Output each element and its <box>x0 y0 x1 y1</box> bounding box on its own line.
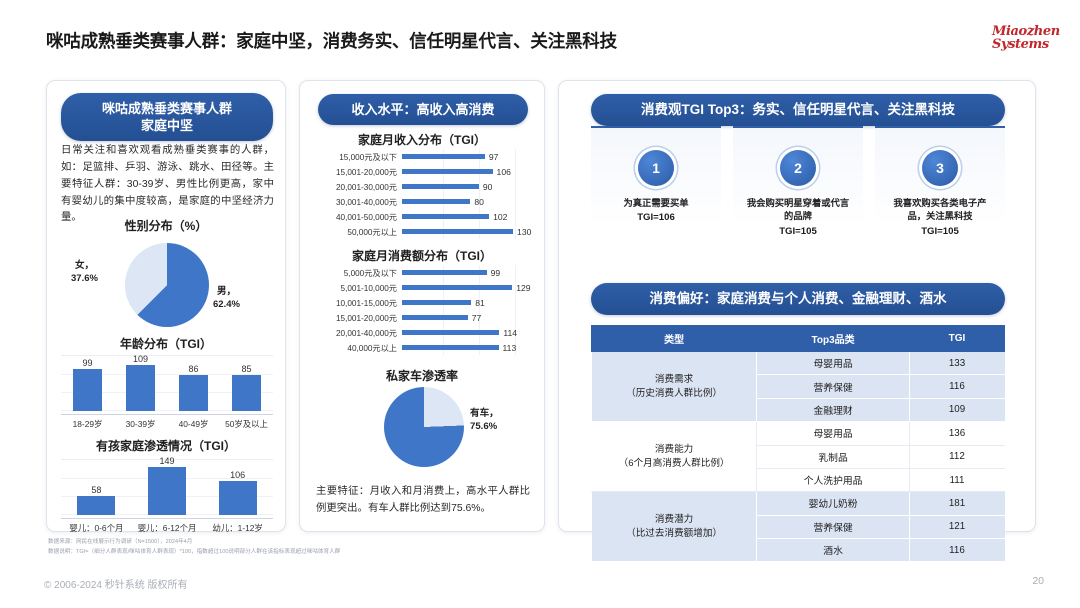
table-cell-tgi: 121 <box>909 515 1004 538</box>
table-row: 消费能力（6个月高消费人群比例）母婴用品136 <box>592 422 1005 445</box>
bar-value-label: 114 <box>503 328 517 338</box>
axis-tick-label: 50,000元以上 <box>314 226 402 238</box>
gender-female-value: 37.6% <box>71 272 98 285</box>
category-line2: （比过去消费额增加） <box>594 527 754 540</box>
bar-value-label: 102 <box>493 212 507 222</box>
bar-column: 149 <box>132 460 203 515</box>
tgi-top3-item-3[interactable]: 3我喜欢购买各类电子产品，关注黑科技TGI=105 <box>875 126 1005 264</box>
child-chart-title: 有孩家庭渗透情况（TGI） <box>47 437 285 454</box>
bar-column: 106 <box>202 460 273 515</box>
tgi-item-value: TGI=106 <box>595 212 717 223</box>
axis-tick-label: 幼儿：1-12岁 <box>202 522 273 534</box>
brand-logo: Miaozhen Systems <box>992 25 1062 51</box>
child-plot-area: 58149106 <box>61 459 273 515</box>
bar-value-label: 130 <box>517 227 531 237</box>
consumption-card: 消费观TGI Top3：务实、信任明星代言、关注黑科技 1为真正需要买单TGI=… <box>558 80 1036 532</box>
preference-table-head: 类型Top3品类TGI <box>592 326 1005 352</box>
bar-track: 90 <box>402 179 532 194</box>
footnote-definition: 数据说明：TGI=（细分人群表现/咪咕体育人群表现）*100，指数超过100说明… <box>48 548 340 558</box>
table-cell-item: 乳制品 <box>757 445 910 468</box>
category-line2: （6个月高消费人群比例） <box>594 457 754 470</box>
axis-tick-label: 40,001-50,000元 <box>314 211 402 223</box>
income-chart-title: 家庭月收入分布（TGI） <box>300 131 544 148</box>
brand-logo-line2: Systems <box>992 38 1062 51</box>
bar-value-label: 106 <box>202 470 273 480</box>
bar-value-label: 85 <box>220 364 273 374</box>
table-cell-item: 营养保健 <box>757 515 910 538</box>
axis-tick-label: 5,000元及以下 <box>314 267 402 279</box>
bar-value-label: 129 <box>516 283 530 293</box>
page-number: 20 <box>1032 575 1044 587</box>
bar-row: 5,001-10,000元129 <box>314 280 532 295</box>
tgi-top3-item-1[interactable]: 1为真正需要买单TGI=106 <box>591 126 721 264</box>
profile-pill-line1: 咪咕成熟垂类赛事人群 <box>65 100 269 117</box>
income-card-header: 收入水平：高收入高消费 <box>318 94 528 125</box>
gender-male-value: 62.4% <box>213 298 240 311</box>
age-bar-chart: 991098685 18-29岁30-39岁40-49岁50岁及以上 <box>61 355 273 431</box>
bar-column: 99 <box>61 356 114 411</box>
bar-value-label: 97 <box>489 152 499 162</box>
table-header-row: 类型Top3品类TGI <box>592 326 1005 352</box>
table-cell-tgi: 112 <box>909 445 1004 468</box>
bar <box>402 330 499 335</box>
bar-value-label: 81 <box>475 298 485 308</box>
income-bar-chart: 15,000元及以下9715,001-20,000元10620,001-30,0… <box>314 149 532 239</box>
axis-tick-label: 15,001-20,000元 <box>314 166 402 178</box>
axis-tick-label: 40-49岁 <box>167 418 220 430</box>
axis-tick-label: 婴儿：6-12个月 <box>132 522 203 534</box>
tgi-item-description: 我会购买明星穿着或代言的品牌 <box>737 197 859 224</box>
bar-row: 15,000元及以下97 <box>314 149 532 164</box>
bar-track: 77 <box>402 310 532 325</box>
gender-female-label: 女， 37.6% <box>71 259 98 286</box>
bar-row: 40,001-50,000元102 <box>314 209 532 224</box>
table-cell-tgi: 136 <box>909 422 1004 445</box>
bar <box>402 169 493 174</box>
preference-header: 消费偏好：家庭消费与个人消费、金融理财、酒水 <box>591 283 1005 315</box>
tgi-top3-header: 消费观TGI Top3：务实、信任明星代言、关注黑科技 <box>591 94 1005 126</box>
bar <box>402 315 468 320</box>
axis-tick-label: 30-39岁 <box>114 418 167 430</box>
bar <box>402 270 487 275</box>
table-cell-item: 金融理财 <box>757 398 910 421</box>
table-cell-item: 母婴用品 <box>757 352 910 375</box>
bar <box>402 229 513 234</box>
table-cell-tgi: 111 <box>909 468 1004 491</box>
table-cell-category: 消费需求（历史消费人群比例） <box>592 352 757 422</box>
bar-value-label: 99 <box>491 268 501 278</box>
bar-column: 58 <box>61 460 132 515</box>
bar-row: 40,000元以上113 <box>314 340 532 355</box>
table-row: 消费潜力（比过去消费额增加）婴幼儿奶粉181 <box>592 492 1005 515</box>
axis-tick-label: 20,001-30,000元 <box>314 181 402 193</box>
tgi-item-description: 为真正需要买单 <box>595 197 717 210</box>
preference-table: 类型Top3品类TGI 消费需求（历史消费人群比例）母婴用品133营养保健116… <box>591 325 1005 562</box>
child-bar-chart: 58149106 婴儿：0-6个月婴儿：6-12个月幼儿：1-12岁 <box>61 459 273 535</box>
bar-track: 113 <box>402 340 532 355</box>
bar <box>402 199 470 204</box>
bar-row: 20,001-30,000元90 <box>314 179 532 194</box>
spend-chart-title: 家庭月消费额分布（TGI） <box>300 247 544 264</box>
category-line1: 消费潜力 <box>594 513 754 526</box>
bar-track: 102 <box>402 209 532 224</box>
tgi-top3-list: 1为真正需要买单TGI=1062我会购买明星穿着或代言的品牌TGI=1053我喜… <box>591 126 1005 264</box>
bar <box>179 375 208 411</box>
axis-tick-label: 15,000元及以下 <box>314 151 402 163</box>
gender-chart-title: 性别分布（%） <box>47 217 285 234</box>
bar-column: 86 <box>167 356 220 411</box>
table-cell-item: 母婴用品 <box>757 422 910 445</box>
bar-value-label: 149 <box>132 456 203 466</box>
rank-badge-1: 1 <box>638 150 674 186</box>
income-summary-note: 主要特征：月收入和月消费上，高水平人群比例更突出。有车人群比例达到75.6%。 <box>316 483 530 517</box>
bar-track: 106 <box>402 164 532 179</box>
bar-track: 114 <box>402 325 532 340</box>
bar-track: 129 <box>402 280 532 295</box>
age-axis-labels: 18-29岁30-39岁40-49岁50岁及以上 <box>61 414 273 430</box>
table-cell-tgi: 116 <box>909 539 1004 562</box>
bar-value-label: 99 <box>61 358 114 368</box>
bar-track: 80 <box>402 194 532 209</box>
child-axis-labels: 婴儿：0-6个月婴儿：6-12个月幼儿：1-12岁 <box>61 518 273 534</box>
bar-value-label: 90 <box>483 182 493 192</box>
bar-value-label: 77 <box>472 313 482 323</box>
rank-badge-2: 2 <box>780 150 816 186</box>
axis-tick-label: 15,001-20,000元 <box>314 312 402 324</box>
footnote-source: 数据来源：网民在线展示行为调研（N=1500），2024年4月 <box>48 538 340 548</box>
table-cell-tgi: 181 <box>909 492 1004 515</box>
bar-row: 50,000元以上130 <box>314 224 532 239</box>
copyright-text: © 2006-2024 秒针系统 版权所有 <box>44 576 188 591</box>
axis-tick-label: 10,001-15,000元 <box>314 297 402 309</box>
bar <box>73 369 102 411</box>
gender-pie-chart <box>125 243 209 327</box>
bar-value-label: 86 <box>167 364 220 374</box>
axis-tick-label: 婴儿：0-6个月 <box>61 522 132 534</box>
table-column-header: 类型 <box>592 326 757 352</box>
bar-row: 15,001-20,000元106 <box>314 164 532 179</box>
bar <box>126 365 155 411</box>
bar-column: 85 <box>220 356 273 411</box>
axis-tick-label: 18-29岁 <box>61 418 114 430</box>
axis-tick-label: 40,000元以上 <box>314 342 402 354</box>
bar <box>402 300 471 305</box>
table-cell-item: 酒水 <box>757 539 910 562</box>
bar-track: 81 <box>402 295 532 310</box>
car-has-label: 有车， 75.6% <box>470 407 499 434</box>
bar-row: 5,000元及以下99 <box>314 265 532 280</box>
tgi-item-value: TGI=105 <box>879 226 1001 237</box>
bar-track: 130 <box>402 224 532 239</box>
axis-tick-label: 50岁及以上 <box>220 418 273 430</box>
bar <box>77 496 115 515</box>
bar <box>148 467 186 515</box>
category-line2: （历史消费人群比例） <box>594 387 754 400</box>
bar-row: 15,001-20,000元77 <box>314 310 532 325</box>
bar <box>219 481 257 515</box>
tgi-item-description: 我喜欢购买各类电子产品，关注黑科技 <box>879 197 1001 224</box>
category-line1: 消费能力 <box>594 443 754 456</box>
bar-value-label: 109 <box>114 354 167 364</box>
profile-card-header: 咪咕成熟垂类赛事人群 家庭中坚 <box>61 93 273 141</box>
gender-male-name: 男， <box>213 285 240 298</box>
age-plot-area: 991098685 <box>61 355 273 411</box>
table-column-header: TGI <box>909 326 1004 352</box>
rank-badge-3: 3 <box>922 150 958 186</box>
bar-column: 109 <box>114 356 167 411</box>
spend-bar-chart: 5,000元及以下995,001-10,000元12910,001-15,000… <box>314 265 532 355</box>
profile-description: 日常关注和喜欢观看成熟垂类赛事的人群，如：足篮排、乒羽、游泳、跳水、田径等。主要… <box>61 143 274 227</box>
category-line1: 消费需求 <box>594 373 754 386</box>
table-column-header: Top3品类 <box>757 326 910 352</box>
car-label-value: 75.6% <box>470 420 499 433</box>
age-chart-title: 年龄分布（TGI） <box>47 335 285 352</box>
page-title: 咪咕成熟垂类赛事人群：家庭中坚，消费务实、信任明星代言、关注黑科技 <box>46 28 617 53</box>
tgi-item-value: TGI=105 <box>737 226 859 237</box>
table-cell-item: 营养保健 <box>757 375 910 398</box>
bar-row: 20,001-40,000元114 <box>314 325 532 340</box>
bar-value-label: 106 <box>497 167 511 177</box>
tgi-top3-item-2[interactable]: 2我会购买明星穿着或代言的品牌TGI=105 <box>733 126 863 264</box>
axis-tick-label: 30,001-40,000元 <box>314 196 402 208</box>
bar-value-label: 58 <box>61 485 132 495</box>
bar-track: 97 <box>402 149 532 164</box>
bar-row: 30,001-40,000元80 <box>314 194 532 209</box>
income-level-card: 收入水平：高收入高消费 家庭月收入分布（TGI） 15,000元及以下9715,… <box>299 80 545 532</box>
table-row: 消费需求（历史消费人群比例）母婴用品133 <box>592 352 1005 375</box>
car-penetration-pie-chart <box>384 387 464 467</box>
preference-table-body: 消费需求（历史消费人群比例）母婴用品133营养保健116金融理财109消费能力（… <box>592 352 1005 562</box>
bar-value-label: 80 <box>474 197 484 207</box>
audience-profile-card: 咪咕成熟垂类赛事人群 家庭中坚 日常关注和喜欢观看成熟垂类赛事的人群，如：足篮排… <box>46 80 286 532</box>
bar <box>402 345 499 350</box>
table-cell-item: 个人洗护用品 <box>757 468 910 491</box>
bar <box>402 184 479 189</box>
table-cell-category: 消费能力（6个月高消费人群比例） <box>592 422 757 492</box>
gender-female-name: 女， <box>71 259 98 272</box>
axis-tick-label: 20,001-40,000元 <box>314 327 402 339</box>
car-label-name: 有车， <box>470 407 499 420</box>
table-cell-tgi: 133 <box>909 352 1004 375</box>
bar <box>232 375 261 411</box>
bar <box>402 214 489 219</box>
car-chart-title: 私家车渗透率 <box>300 367 544 384</box>
axis-tick-label: 5,001-10,000元 <box>314 282 402 294</box>
bar-value-label: 113 <box>503 343 517 353</box>
bar <box>402 154 485 159</box>
table-cell-tgi: 116 <box>909 375 1004 398</box>
profile-pill-line2: 家庭中坚 <box>65 117 269 134</box>
footnotes: 数据来源：网民在线展示行为调研（N=1500），2024年4月 数据说明：TGI… <box>48 538 340 557</box>
table-cell-item: 婴幼儿奶粉 <box>757 492 910 515</box>
bar <box>402 285 512 290</box>
bar-row: 10,001-15,000元81 <box>314 295 532 310</box>
gender-male-label: 男， 62.4% <box>213 285 240 312</box>
table-cell-category: 消费潜力（比过去消费额增加） <box>592 492 757 562</box>
table-cell-tgi: 109 <box>909 398 1004 421</box>
bar-track: 99 <box>402 265 532 280</box>
